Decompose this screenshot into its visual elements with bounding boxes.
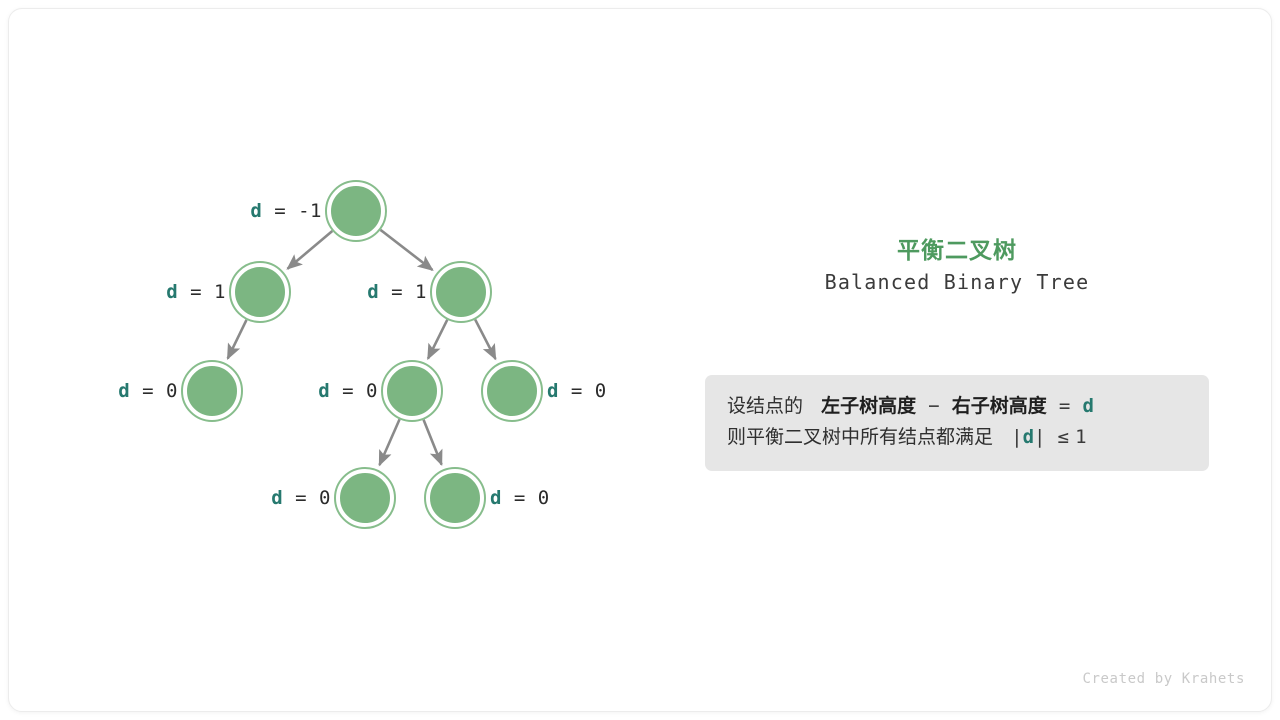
tree-edge — [381, 230, 433, 270]
info-term-right-height: 右子树高度 — [952, 395, 1047, 417]
tree-edges — [228, 230, 496, 465]
node-balance-label: d = 0 — [490, 487, 550, 509]
info-line-2: 则平衡二叉树中所有结点都满足 |d| ≤ 1 — [727, 422, 1187, 453]
node-balance-label: d = 0 — [318, 380, 378, 402]
info-variable-d-2: d — [1023, 426, 1034, 448]
node-label-variable: d — [271, 487, 283, 509]
info-line-1: 设结点的 左子树高度 − 右子树高度 = d — [727, 391, 1187, 422]
tree-svg — [9, 9, 669, 712]
node-label-expression: = 0 — [130, 380, 178, 402]
node-circle — [186, 365, 238, 417]
page-subtitle: Balanced Binary Tree — [697, 270, 1217, 294]
tree-node[interactable] — [230, 262, 290, 322]
node-label-expression: = -1 — [262, 200, 322, 222]
info-term-left-height: 左子树高度 — [821, 395, 916, 417]
node-circle — [486, 365, 538, 417]
tree-node[interactable] — [482, 361, 542, 421]
page-title: 平衡二叉树 — [697, 231, 1217, 265]
node-circle — [234, 266, 286, 318]
node-balance-label: d = -1 — [250, 200, 322, 222]
tree-node[interactable] — [182, 361, 242, 421]
node-balance-label: d = 1 — [367, 281, 427, 303]
node-balance-label: d = 1 — [166, 281, 226, 303]
node-label-expression: = 0 — [330, 380, 378, 402]
info-variable-d-1: d — [1082, 395, 1093, 417]
info-box: 设结点的 左子树高度 − 右子树高度 = d 则平衡二叉树中所有结点都满足 |d… — [705, 375, 1209, 471]
node-label-variable: d — [547, 380, 559, 402]
node-label-variable: d — [367, 281, 379, 303]
tree-edge — [424, 420, 442, 465]
node-label-expression: = 1 — [178, 281, 226, 303]
node-label-variable: d — [318, 380, 330, 402]
node-label-expression: = 0 — [283, 487, 331, 509]
abs-bar-open: | — [1011, 426, 1022, 448]
node-balance-label: d = 0 — [271, 487, 331, 509]
tree-edge — [228, 320, 247, 359]
tree-nodes — [182, 181, 542, 528]
node-circle — [435, 266, 487, 318]
node-label-variable: d — [490, 487, 502, 509]
node-label-variable: d — [118, 380, 130, 402]
node-circle — [386, 365, 438, 417]
info-relation-sign: ≤ — [1058, 426, 1069, 448]
node-label-variable: d — [250, 200, 262, 222]
tree-edge — [475, 320, 495, 359]
node-balance-label: d = 0 — [118, 380, 178, 402]
tree-node[interactable] — [326, 181, 386, 241]
node-label-expression: = 1 — [379, 281, 427, 303]
tree-edge — [428, 320, 447, 359]
info-equals-sign: = — [1059, 395, 1070, 417]
node-label-expression: = 0 — [559, 380, 607, 402]
node-balance-label: d = 0 — [547, 380, 607, 402]
footer-credit: Created by Krahets — [1082, 671, 1245, 687]
node-label-expression: = 0 — [502, 487, 550, 509]
tree-edge — [379, 419, 399, 465]
tree-node[interactable] — [382, 361, 442, 421]
right-panel: 平衡二叉树 Balanced Binary Tree 设结点的 左子树高度 − … — [697, 9, 1233, 712]
info-bound-value: 1 — [1075, 426, 1086, 448]
info-prefix-2: 则平衡二叉树中所有结点都满足 — [727, 426, 993, 448]
tree-node[interactable] — [425, 468, 485, 528]
node-label-variable: d — [166, 281, 178, 303]
info-prefix-1: 设结点的 — [727, 395, 803, 417]
tree-diagram: d = -1d = 1d = 1d = 0d = 0d = 0d = 0d = … — [9, 9, 669, 712]
abs-bar-close: | — [1034, 426, 1045, 448]
tree-node[interactable] — [431, 262, 491, 322]
node-circle — [429, 472, 481, 524]
tree-node[interactable] — [335, 468, 395, 528]
tree-edge — [288, 231, 333, 269]
node-circle — [339, 472, 391, 524]
info-minus-sign: − — [928, 395, 939, 417]
page-card: d = -1d = 1d = 1d = 0d = 0d = 0d = 0d = … — [8, 8, 1272, 712]
node-circle — [330, 185, 382, 237]
